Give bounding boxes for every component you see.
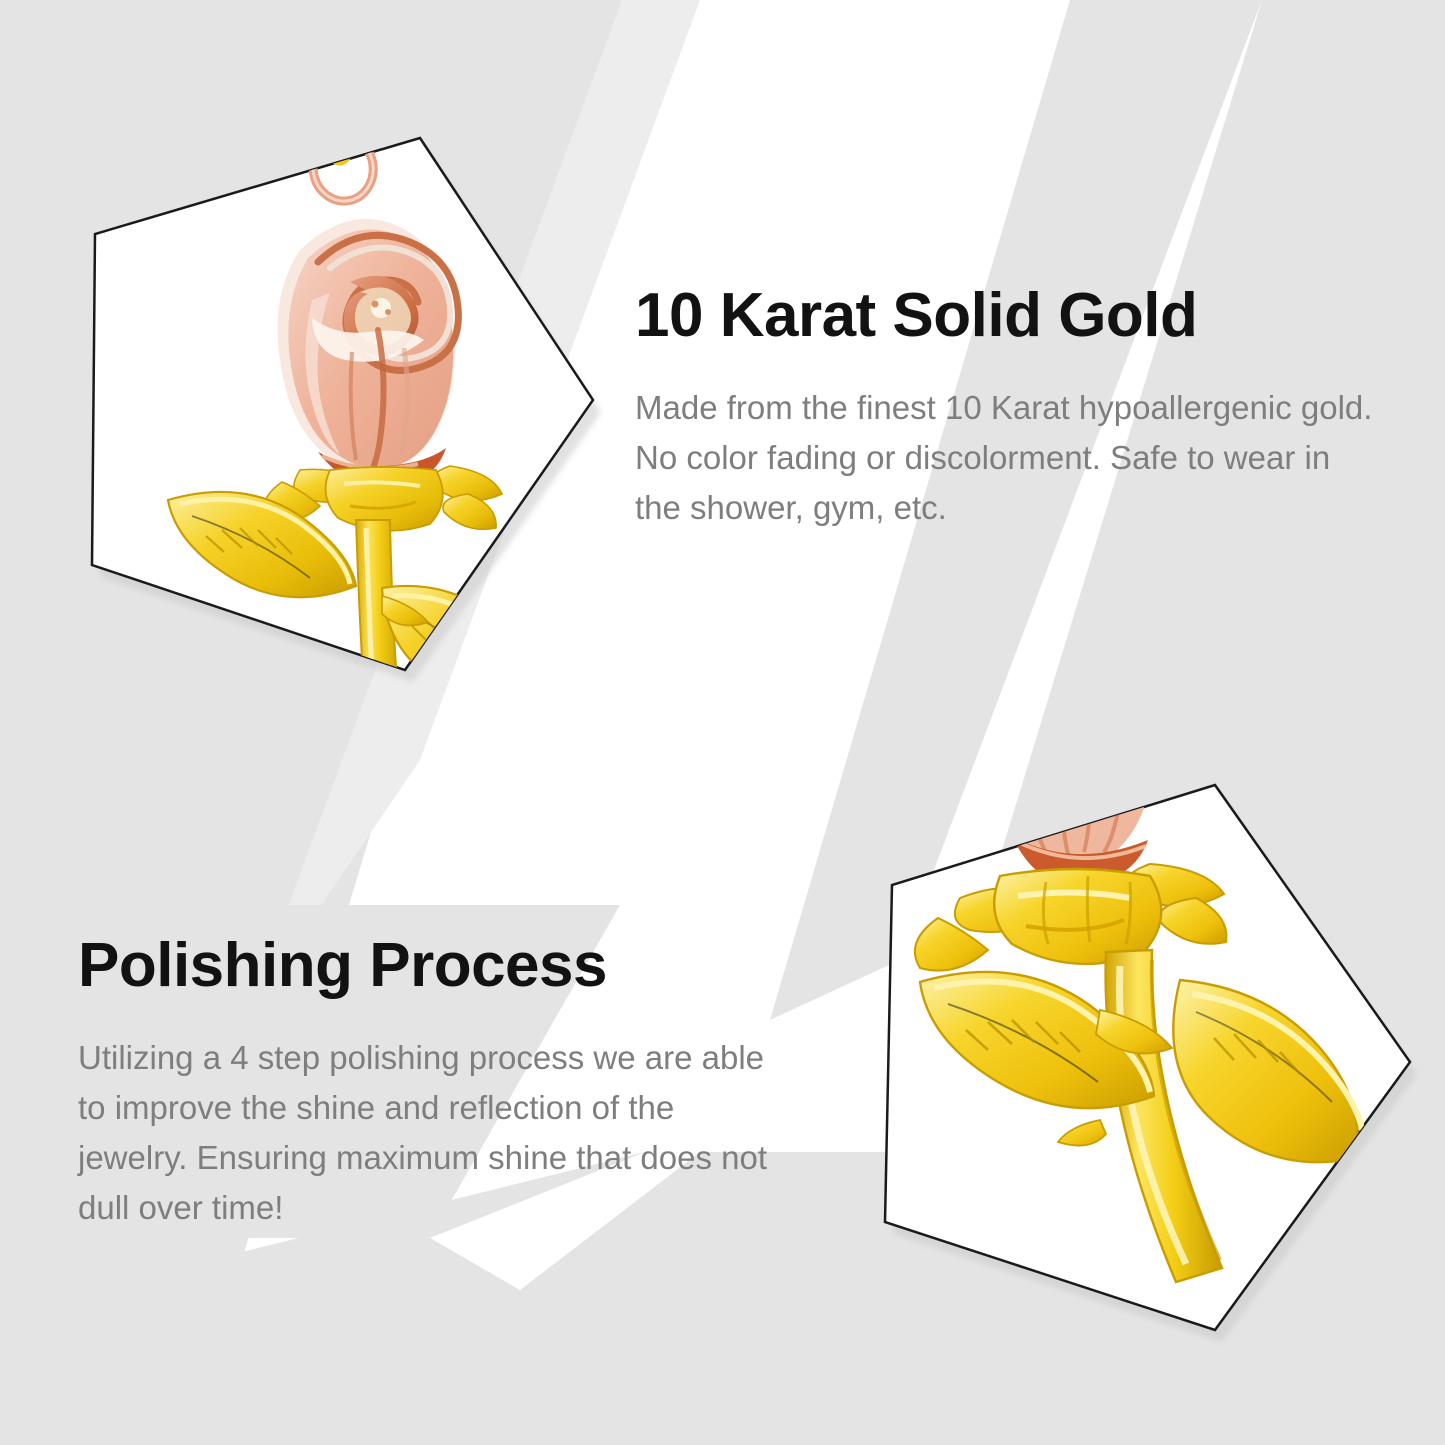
feature-text-polish: Polishing Process Utilizing a 4 step pol… bbox=[78, 935, 778, 1234]
feature-heading-polish: Polishing Process bbox=[78, 935, 778, 997]
feature-text-gold: 10 Karat Solid Gold Made from the finest… bbox=[635, 285, 1395, 533]
feature-body-gold: Made from the finest 10 Karat hypoallerg… bbox=[635, 383, 1375, 533]
infographic-canvas: 10 Karat Solid Gold Made from the finest… bbox=[0, 0, 1445, 1445]
feature-heading-gold: 10 Karat Solid Gold bbox=[635, 285, 1395, 347]
feature-body-polish: Utilizing a 4 step polishing process we … bbox=[78, 1033, 768, 1234]
